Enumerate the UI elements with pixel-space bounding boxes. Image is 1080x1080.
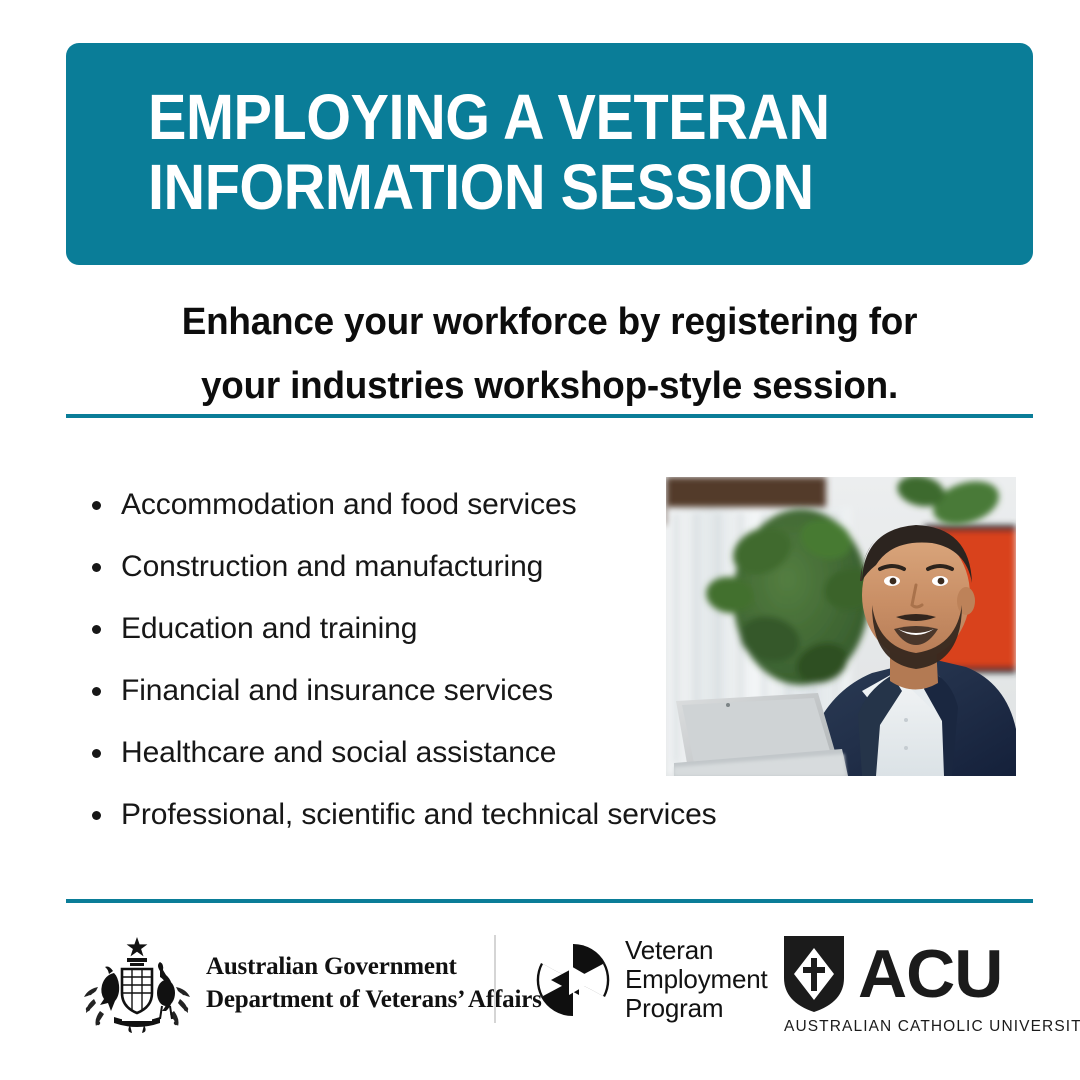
bullet-dot-icon <box>92 749 101 758</box>
vep-circular-arrow-icon <box>535 942 611 1018</box>
footer-logo-bar: Australian Government Department of Vete… <box>0 918 1080 1048</box>
bullet-dot-icon <box>92 687 101 696</box>
list-item-label: Education and training <box>121 612 417 645</box>
bullet-dot-icon <box>92 501 101 510</box>
dva-line-2: Department of Veterans’ Affairs <box>206 986 542 1013</box>
footer-vertical-separator <box>494 935 496 1023</box>
smiling-businessman-with-laptop-photo <box>666 477 1016 776</box>
commonwealth-coat-of-arms-icon <box>78 933 196 1033</box>
list-item-label: Professional, scientific and technical s… <box>121 798 717 831</box>
subtitle-line-1: Enhance your workforce by registering fo… <box>81 290 1019 354</box>
acu-letters: ACU <box>858 939 1002 1009</box>
bullet-dot-icon <box>92 625 101 634</box>
acu-lockup: ACU <box>782 934 1032 1014</box>
bullet-dot-icon <box>92 563 101 572</box>
list-item-label: Construction and manufacturing <box>121 550 543 583</box>
acu-subtitle: AUSTRALIAN CATHOLIC UNIVERSITY <box>784 1018 1030 1036</box>
header-banner: EMPLOYING A VETERAN INFORMATION SESSION <box>66 43 1033 265</box>
dva-line-1: Australian Government <box>206 953 457 980</box>
list-item-label: Healthcare and social assistance <box>121 736 556 769</box>
acu-shield-cross-icon <box>782 934 846 1014</box>
australian-government-dva-logo: Australian Government Department of Vete… <box>78 930 468 1035</box>
list-item: Professional, scientific and technical s… <box>88 784 788 846</box>
vep-line-1: Veteran <box>625 935 713 965</box>
list-item-label: Accommodation and food services <box>121 488 576 521</box>
vep-wordmark: Veteran Employment Program <box>625 936 768 1023</box>
veteran-employment-program-logo: Veteran Employment Program <box>535 936 768 1023</box>
vep-line-2: Employment <box>625 964 768 994</box>
acu-logo: ACU AUSTRALIAN CATHOLIC UNIVERSITY <box>782 934 1032 1036</box>
subtitle: Enhance your workforce by registering fo… <box>81 290 1019 418</box>
page-title: EMPLOYING A VETERAN INFORMATION SESSION <box>148 82 922 222</box>
subtitle-line-2: your industries workshop-style session. <box>81 354 1019 418</box>
poster-canvas: EMPLOYING A VETERAN INFORMATION SESSION … <box>0 0 1080 1080</box>
top-divider-rule <box>66 414 1033 418</box>
list-item-label: Financial and insurance services <box>121 674 553 707</box>
bullet-dot-icon <box>92 811 101 820</box>
bottom-divider-rule <box>66 899 1033 903</box>
vep-line-3: Program <box>625 993 723 1023</box>
dva-wordmark: Australian Government Department of Vete… <box>206 950 542 1016</box>
